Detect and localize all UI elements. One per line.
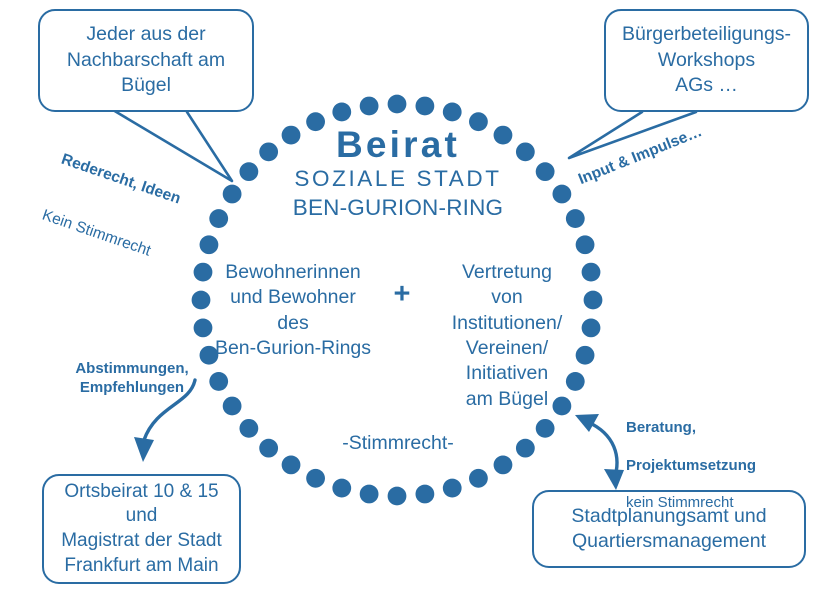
ring-title-block: Beirat SOZIALE STADT BEN-GURION-RING — [198, 126, 598, 220]
caption-beratung-line1: Beratung, — [626, 419, 816, 438]
bubble-neighbourhood[interactable]: Jeder aus der Nachbarschaft am Bügel — [38, 9, 254, 112]
ring-dot — [282, 455, 301, 474]
box-ortsbeirat-magistrat[interactable]: Ortsbeirat 10 & 15 und Magistrat der Sta… — [42, 474, 241, 584]
ring-member-columns: Bewohnerinnen und Bewohner des Ben-Gurio… — [196, 258, 600, 412]
caption-rederecht-bold: Rederecht, Ideen — [59, 149, 184, 208]
caption-abstimmungen: Abstimmungen, Empfehlungen — [42, 360, 222, 398]
ring-dot — [576, 235, 595, 254]
ring-dot — [200, 235, 219, 254]
ring-dot — [469, 469, 488, 488]
ring-dot — [388, 487, 407, 506]
caption-beratung-line2: Projektumsetzung — [626, 457, 816, 476]
bubble-workshops[interactable]: Bürgerbeteiligungs- Workshops AGs … — [604, 9, 809, 112]
ring-voting-rights-note: -Stimmrecht- — [298, 432, 498, 455]
plus-icon: + — [382, 258, 422, 309]
caption-beratung: Beratung, Projektumsetzung kein Stimmrec… — [626, 400, 816, 532]
ring-dot — [415, 97, 434, 116]
caption-rederecht-regular: Kein Stimmrecht — [39, 206, 164, 265]
box-ortsbeirat-text: Ortsbeirat 10 & 15 und Magistrat der Sta… — [53, 480, 230, 579]
page-subtitle-1: SOZIALE STADT — [198, 163, 598, 195]
ring-dot — [306, 469, 325, 488]
bubble-workshops-text: Bürgerbeteiligungs- Workshops AGs … — [614, 22, 799, 98]
ring-dot — [516, 439, 535, 458]
ring-dot — [239, 419, 258, 438]
ring-dot — [332, 479, 351, 498]
diagram-canvas: Beirat SOZIALE STADT BEN-GURION-RING Bew… — [0, 0, 820, 600]
caption-beratung-line3: kein Stimmrecht — [626, 494, 816, 513]
ring-dot — [415, 485, 434, 504]
arrow-beratung — [575, 414, 624, 490]
bubble-neighbourhood-text: Jeder aus der Nachbarschaft am Bügel — [59, 22, 233, 98]
ring-column-residents: Bewohnerinnen und Bewohner des Ben-Gurio… — [204, 258, 382, 361]
page-subtitle-2: BEN-GURION-RING — [198, 195, 598, 221]
ring-dot — [388, 95, 407, 114]
ring-dot — [443, 103, 462, 122]
ring-dot — [494, 455, 513, 474]
ring-dot — [332, 103, 351, 122]
page-title: Beirat — [198, 126, 598, 163]
ring-dot — [360, 97, 379, 116]
ring-column-institutions: Vertretung von Institutionen/ Vereinen/ … — [422, 258, 592, 412]
ring-dot — [259, 439, 278, 458]
ring-dot — [536, 419, 555, 438]
ring-dot — [443, 479, 462, 498]
ring-dot — [360, 485, 379, 504]
